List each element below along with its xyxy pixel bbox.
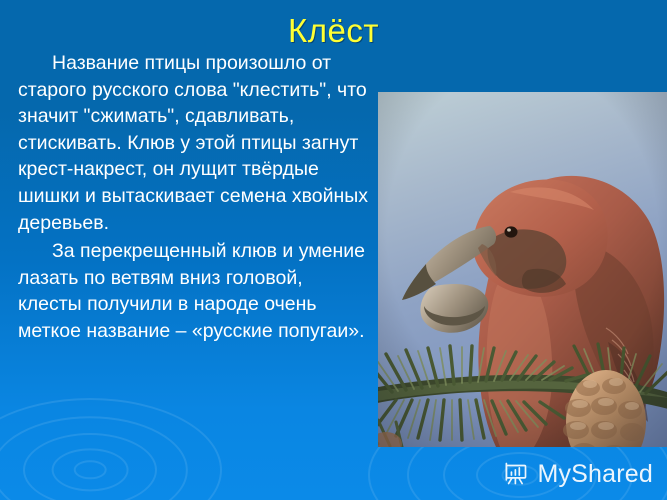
bird-photo-illustration (378, 92, 667, 447)
bird-photo (378, 92, 667, 447)
myshared-label-my: My (537, 460, 571, 488)
paragraph-1: Название птицы произошло от старого русс… (18, 50, 368, 236)
presentation-chart-icon (503, 461, 530, 488)
myshared-label-shared: Shared (571, 460, 653, 488)
presentation-slide: Клёст Название птицы произошло от старог… (0, 0, 667, 500)
ripple-rings-left (0, 400, 220, 500)
myshared-watermark: MyShared (503, 461, 653, 488)
slide-body-text: Название птицы произошло от старого русс… (18, 50, 368, 345)
slide-title: Клёст (0, 12, 667, 50)
myshared-label: MyShared (537, 462, 653, 487)
paragraph-2: За перекрещенный клюв и умение лазать по… (18, 238, 368, 344)
